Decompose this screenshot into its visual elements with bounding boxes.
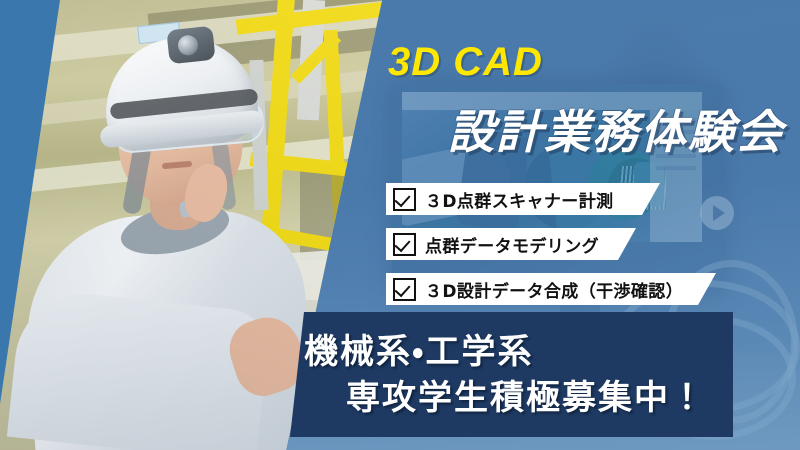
checkbox-checked-icon[interactable]: [393, 278, 416, 301]
checklist-item-label: 点群データモデリング: [425, 232, 599, 257]
checklist: ３D点群スキャナー計測 点群データモデリング ３D設計データ合成（干渉確認）: [386, 183, 723, 318]
poster-banner: 3D CAD 設計業務体験会 ３D点群スキャナー計測 点群データモデリング ３D…: [0, 0, 800, 450]
headline-japanese: 設計業務体験会: [448, 96, 784, 162]
recruit-line-1: 機械系・工学系: [304, 324, 534, 373]
recruit-line-2: 専攻学生積極募集中！: [346, 370, 706, 419]
checklist-item[interactable]: ３D点群スキャナー計測: [386, 183, 667, 215]
checklist-item-label: ３D設計データ合成（干渉確認）: [425, 277, 683, 302]
checklist-item[interactable]: ３D設計データ合成（干渉確認）: [386, 273, 723, 305]
checklist-item[interactable]: 点群データモデリング: [386, 228, 643, 260]
checkbox-checked-icon[interactable]: [393, 188, 416, 211]
recruit-box: 機械系・工学系 専攻学生積極募集中！: [290, 312, 733, 437]
headline-3dcad: 3D CAD: [388, 40, 543, 85]
checkbox-checked-icon[interactable]: [393, 233, 416, 256]
checklist-item-label: ３D点群スキャナー計測: [425, 187, 614, 212]
